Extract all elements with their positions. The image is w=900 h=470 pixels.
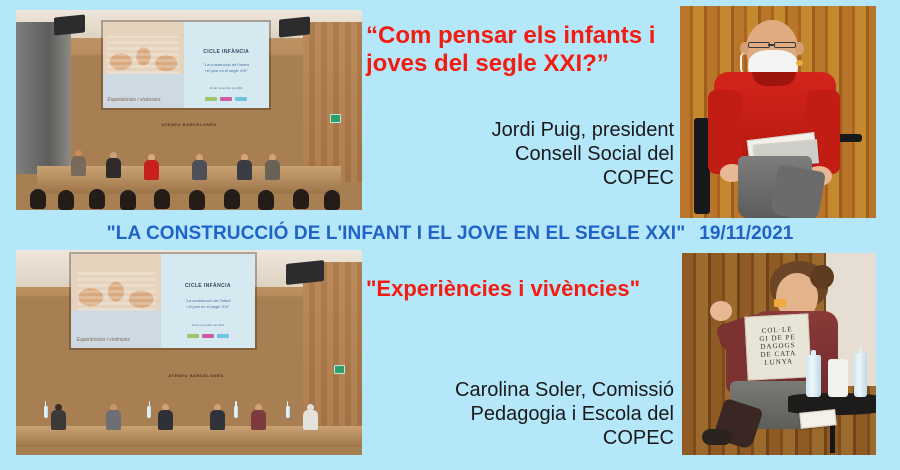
venue-marquee: ATENEU BARCELONÈS bbox=[168, 373, 223, 378]
bottom-headline: "Experiències i vivències" bbox=[366, 276, 666, 302]
slide-title: CICLE INFÀNCIA bbox=[185, 283, 231, 289]
bottom-speaker-line2: Pedagogia i Escola del bbox=[374, 402, 674, 426]
slide-photo: Experiències i vivències bbox=[71, 254, 161, 348]
glasses-icon bbox=[748, 42, 770, 48]
top-speaker-credit: Jordi Puig, president Consell Social del… bbox=[380, 118, 674, 190]
bottom-speaker-line1: Carolina Soler, Comissió bbox=[374, 378, 674, 402]
speaker-box-left bbox=[54, 14, 85, 35]
slide-text: CICLE INFÀNCIA "La construcció de l'infa… bbox=[161, 254, 255, 348]
hair-bun bbox=[810, 265, 834, 289]
bottom-headline-text: "Experiències i vivències" bbox=[366, 276, 666, 302]
slide-subtitle-line1: "La construcció de l'infant bbox=[204, 62, 249, 67]
water-bottle bbox=[44, 406, 48, 418]
water-bottle bbox=[854, 353, 867, 397]
slide-subtitle-line2: i el jove en el segle XXI" bbox=[205, 68, 248, 73]
slide-caption: Experiències i vivències bbox=[77, 337, 130, 343]
slide-caption: Experiències i vivències bbox=[107, 97, 160, 103]
projection-screen: Experiències i vivències CICLE INFÀNCIA … bbox=[103, 22, 269, 108]
slide-subtitle-line1: "La construcció de l'infant bbox=[185, 298, 230, 303]
top-speaker-line3: COPEC bbox=[380, 166, 674, 190]
venue-marquee: ATENEU BARCELONÈS bbox=[161, 122, 216, 127]
banner-title: "LA CONSTRUCCIÓ DE L'INFANT I EL JOVE EN… bbox=[107, 223, 686, 244]
panelist bbox=[251, 404, 266, 430]
speaker-portrait-carolina-soler: COL·LE GI DE PE DAGOGS DE CATA LUNYA bbox=[682, 253, 876, 455]
logo-chip-1 bbox=[187, 334, 199, 338]
slide-title: CICLE INFÀNCIA bbox=[203, 49, 249, 55]
top-headline: “Com pensar els infants i joves del segl… bbox=[366, 22, 666, 79]
leg-crossed bbox=[770, 164, 826, 218]
speaker-box-right bbox=[279, 16, 310, 37]
slide-date: 19 de novembre de 2021 bbox=[191, 323, 224, 327]
panelist bbox=[303, 404, 318, 430]
top-headline-line2: joves del segle XXI?” bbox=[366, 50, 666, 78]
speaker-box-right bbox=[286, 260, 324, 284]
arm-left bbox=[708, 90, 742, 174]
water-bottle bbox=[806, 355, 821, 397]
microphone bbox=[774, 299, 786, 307]
ear bbox=[795, 42, 804, 55]
top-speaker-line2: Consell Social del bbox=[380, 142, 674, 166]
water-bottle bbox=[147, 406, 151, 418]
hand-raised bbox=[710, 301, 732, 321]
exit-sign-icon bbox=[330, 114, 341, 123]
speaker-portrait-jordi-puig bbox=[680, 6, 876, 218]
held-sign: COL·LE GI DE PE DAGOGS DE CATA LUNYA bbox=[744, 313, 811, 380]
left-wall bbox=[16, 22, 71, 174]
banner-date: 19/11/2021 bbox=[699, 223, 793, 244]
logo-chip-3 bbox=[217, 334, 229, 338]
microphone bbox=[796, 60, 803, 66]
slide-date: 19 de novembre de 2021 bbox=[210, 86, 243, 90]
top-speaker-line1: Jordi Puig, president bbox=[380, 118, 674, 142]
slide-subtitle: "La construcció de l'infant i el jove en… bbox=[204, 62, 249, 74]
banner: "LA CONSTRUCCIÓ DE L'INFANT I EL JOVE EN… bbox=[0, 223, 900, 245]
poster-canvas: Experiències i vivències CICLE INFÀNCIA … bbox=[0, 0, 900, 470]
logo-chip-3 bbox=[235, 97, 247, 101]
slide-logos bbox=[205, 97, 247, 101]
slide-logos bbox=[187, 334, 229, 338]
shoe bbox=[702, 429, 732, 445]
audience bbox=[16, 162, 362, 210]
auditorium-panel-photo-top: Experiències i vivències CICLE INFÀNCIA … bbox=[16, 10, 362, 210]
logo-chip-1 bbox=[205, 97, 217, 101]
slide-subtitle: "La construcció de l'infant i el jove en… bbox=[185, 298, 230, 310]
water-bottle bbox=[286, 406, 290, 418]
projection-screen: Experiències i vivències CICLE INFÀNCIA … bbox=[71, 254, 254, 348]
top-headline-line1: “Com pensar els infants i bbox=[366, 22, 666, 50]
slide-photo: Experiències i vivències bbox=[103, 22, 184, 108]
mask-ear-loop bbox=[740, 52, 752, 74]
logo-chip-2 bbox=[202, 334, 214, 338]
hand-sanitizer-bottle bbox=[828, 359, 848, 397]
panelist bbox=[51, 404, 66, 430]
bottom-speaker-credit: Carolina Soler, Comissió Pedagogia i Esc… bbox=[374, 378, 674, 450]
glasses-bridge bbox=[768, 44, 774, 46]
slide-subtitle-line2: i el jove en el segle XXI" bbox=[186, 304, 229, 309]
glasses-icon bbox=[774, 42, 796, 48]
sign-line5: LUNYA bbox=[760, 358, 797, 368]
panelist bbox=[210, 404, 225, 430]
logo-chip-2 bbox=[220, 97, 232, 101]
panelist bbox=[106, 404, 121, 430]
panelist bbox=[158, 404, 173, 430]
water-bottle bbox=[234, 406, 238, 418]
auditorium-panel-photo-bottom: Experiències i vivències CICLE INFÀNCIA … bbox=[16, 250, 362, 455]
sign-text: COL·LE GI DE PE DAGOGS DE CATA LUNYA bbox=[759, 326, 797, 367]
wood-wall bbox=[23, 348, 348, 418]
bottom-speaker-line3: COPEC bbox=[374, 426, 674, 450]
slide-text: CICLE INFÀNCIA "La construcció de l'infa… bbox=[184, 22, 269, 108]
exit-sign-icon bbox=[334, 365, 345, 374]
